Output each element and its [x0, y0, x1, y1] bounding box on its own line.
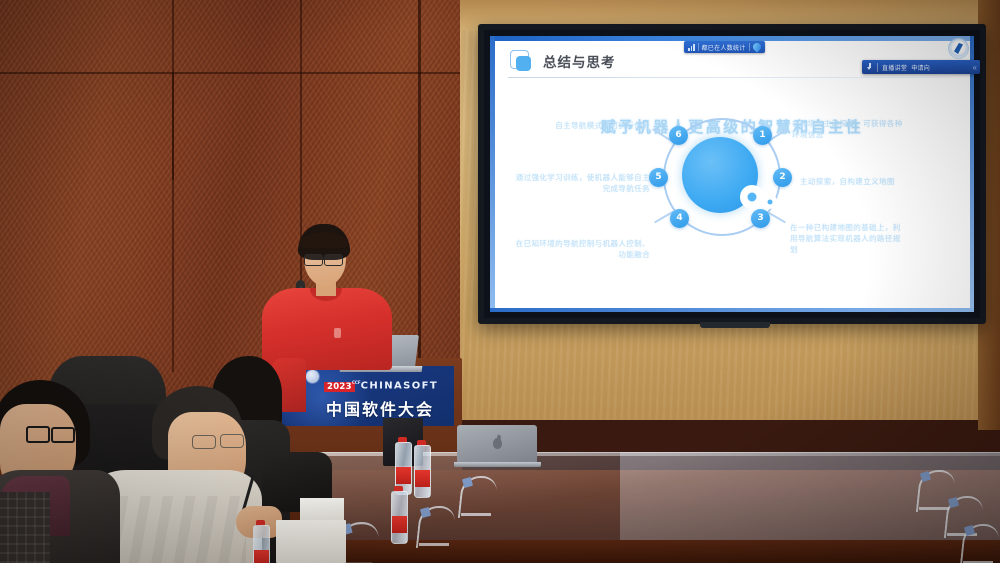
- laptop-base: [454, 462, 541, 467]
- slide-border-right: [970, 36, 974, 312]
- wall-seam-horizontal: [0, 72, 460, 74]
- diagram-node-2[interactable]: 2: [773, 168, 792, 187]
- speaker-shirt-logo: [334, 328, 341, 338]
- speaker-presenter: [262, 224, 392, 369]
- panelist-2-glasses-icon: [192, 434, 246, 448]
- flame-icon: [751, 41, 762, 52]
- water-bottle: [391, 486, 406, 542]
- panelist-1-glasses-icon: [26, 426, 72, 440]
- download-icon: [866, 63, 873, 72]
- diagram-label-3: 在一种已构建地图的基础上，利用导航算法实现机器人的路径规划: [790, 222, 908, 255]
- diagram-label-1: 在环境中主动探索，可获得各种环境信息: [792, 118, 910, 140]
- gear-icon-medium: [762, 194, 777, 209]
- cycle-diagram: 1 2 3 4 5 6: [645, 110, 795, 250]
- live-chip-label-1: 直播讲堂: [882, 63, 907, 72]
- diagram-node-5[interactable]: 5: [649, 168, 668, 187]
- diagram-node-3[interactable]: 3: [751, 209, 770, 228]
- speaker-glasses-icon: [304, 254, 347, 264]
- speaker-fringe: [300, 232, 348, 248]
- banner-brand-sup: CCF: [352, 380, 361, 385]
- diagram-label-4: 在已知环境的导航控制与机器人控制、功能融合: [510, 238, 650, 260]
- chevron-left-icon[interactable]: «: [973, 63, 976, 72]
- slide-border-bottom: [490, 308, 974, 312]
- diagram-node-6[interactable]: 6: [669, 126, 688, 145]
- wall-seam-vertical-4: [418, 0, 421, 400]
- diagram-label-6: 自主导航模式，可执行任务: [520, 120, 650, 131]
- laptop-macbook: [457, 425, 537, 467]
- live-chip-label-2: 申请向: [911, 63, 930, 72]
- screenshot-root: 总结与思考 赋予机器人更高级的智慧和自主性 机器人系统导航、路径规划 1 2 3…: [0, 0, 1000, 563]
- slide-header-title: 总结与思考: [543, 51, 616, 71]
- laptop-lid: [457, 425, 537, 463]
- diagram-label-5: 通过强化学习训练，使机器人能够自主完成导航任务: [508, 172, 650, 194]
- viewer-count-chip[interactable]: 都已在人数统计: [684, 41, 765, 53]
- notepad: [300, 498, 344, 520]
- water-bottle: [414, 440, 429, 496]
- name-card-holder: [460, 476, 494, 516]
- signal-bars-icon: [688, 44, 695, 51]
- banner-year: 2023: [324, 382, 355, 392]
- viewer-count-label: 都已在人数统计: [702, 43, 746, 52]
- name-card-holder: [962, 524, 996, 563]
- banner-title-cn: 中国软件大会: [326, 396, 434, 420]
- rounded-square-icon: [510, 50, 534, 72]
- gear-icon-large: [740, 185, 764, 209]
- panelist-1-plaid-sleeve: [0, 492, 50, 563]
- diagram-core-circle: [682, 137, 758, 213]
- live-stream-chip[interactable]: 直播讲堂 申请向 «: [862, 60, 980, 74]
- slide-header-rule: [508, 77, 951, 78]
- diagram-node-4[interactable]: 4: [670, 209, 689, 228]
- institute-logo: [946, 38, 972, 60]
- water-bottle: [395, 437, 410, 493]
- banner-brand: CCFCHINASOFT: [352, 380, 438, 391]
- display-screen-stand: [700, 322, 770, 328]
- diagram-label-2: 主动探索，自构建立义地图: [800, 176, 900, 187]
- emblem-right-icon: [306, 370, 319, 383]
- diagram-node-1[interactable]: 1: [753, 126, 772, 145]
- slide-border-left: [490, 36, 495, 312]
- wall-seam-vertical-2: [172, 72, 174, 372]
- water-bottle: [253, 520, 268, 563]
- documents-on-table: [276, 520, 346, 563]
- name-card-holder: [418, 506, 452, 546]
- apple-logo-icon: [493, 438, 502, 449]
- slide-header: 总结与思考: [510, 50, 616, 72]
- conference-banner: 2023 CCFCHINASOFT 中国软件大会: [282, 366, 454, 426]
- banner-brand-text: CHINASOFT: [361, 380, 439, 391]
